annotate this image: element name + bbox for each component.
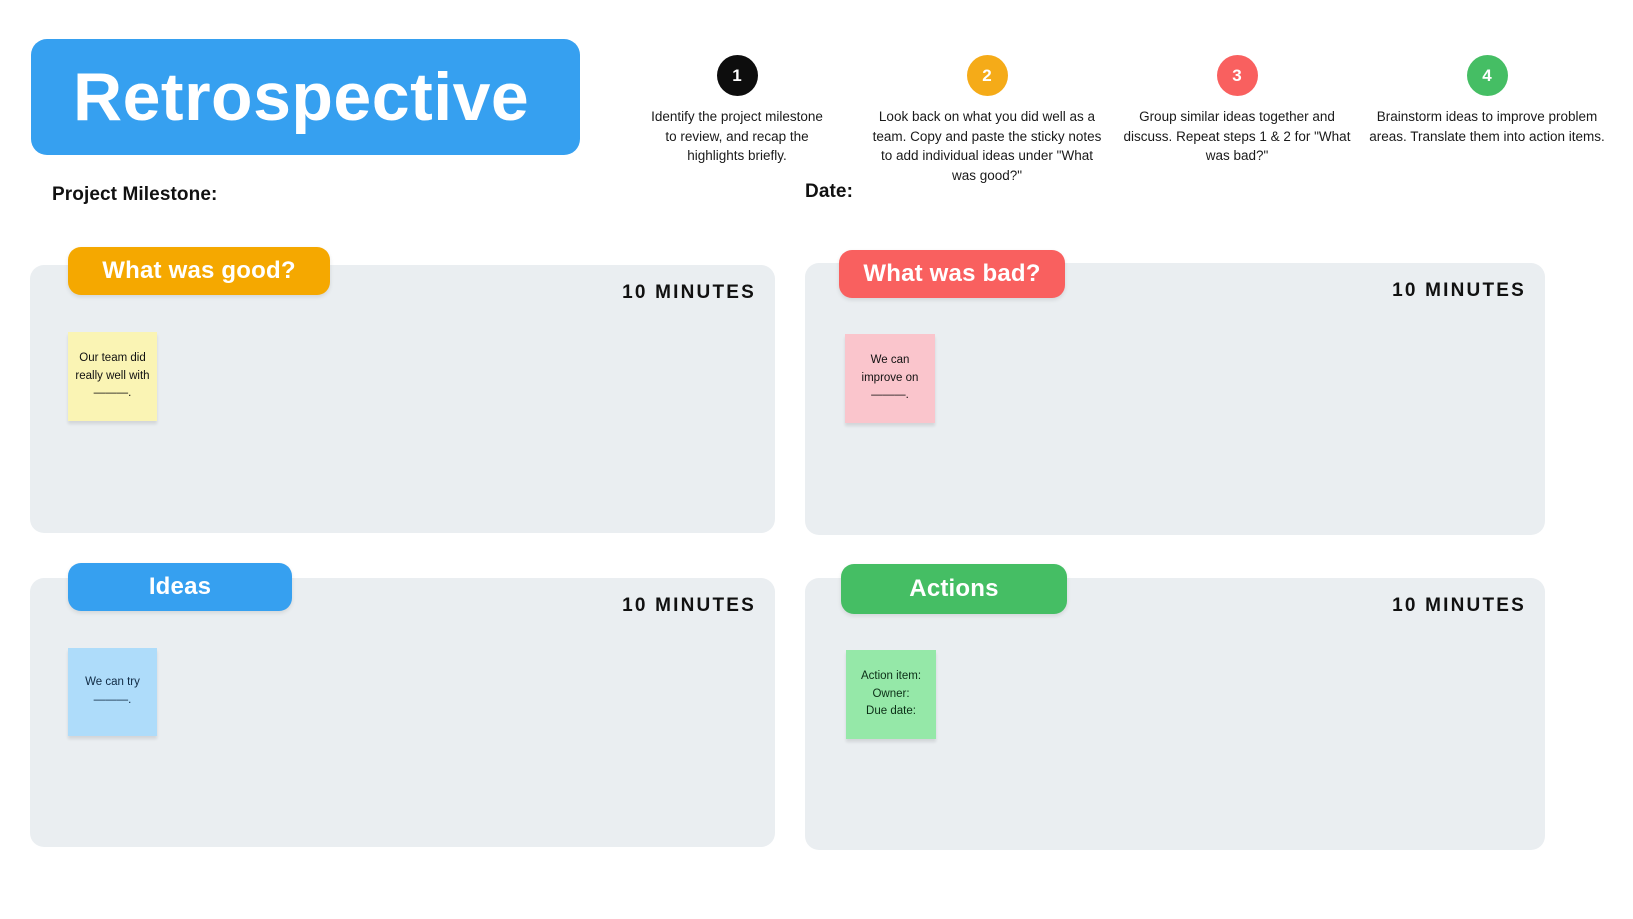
- date-label: Date:: [805, 181, 853, 203]
- panel-duration-good: 10 MINUTES: [622, 282, 756, 304]
- category-pill-label-actions: Actions: [909, 575, 998, 603]
- category-pill-label-good: What was good?: [102, 257, 295, 285]
- sticky-note-text-ideas: We can try ———.: [85, 674, 140, 710]
- instruction-step-3: 3 Group similar ideas together and discu…: [1112, 55, 1362, 185]
- project-milestone-label: Project Milestone:: [52, 184, 217, 206]
- step-description-1: Identify the project milestone to review…: [650, 107, 825, 166]
- step-description-3: Group similar ideas together and discuss…: [1118, 107, 1356, 166]
- sticky-note-good[interactable]: Our team did really well with ———.: [68, 332, 157, 421]
- category-pill-actions[interactable]: Actions: [841, 564, 1067, 614]
- sticky-note-bad[interactable]: We can improve on ———.: [845, 334, 935, 423]
- category-pill-label-bad: What was bad?: [863, 260, 1040, 288]
- instruction-step-1: 1 Identify the project milestone to revi…: [612, 55, 862, 185]
- panel-duration-actions: 10 MINUTES: [1392, 595, 1526, 617]
- sticky-note-actions[interactable]: Action item: Owner: Due date:: [846, 650, 936, 739]
- step-number-badge-3: 3: [1217, 55, 1258, 96]
- instruction-step-2: 2 Look back on what you did well as a te…: [862, 55, 1112, 185]
- category-pill-what-was-bad[interactable]: What was bad?: [839, 250, 1065, 298]
- sticky-note-text-good: Our team did really well with ———.: [74, 350, 151, 403]
- step-description-4: Brainstorm ideas to improve problem area…: [1368, 107, 1606, 146]
- category-pill-label-ideas: Ideas: [149, 573, 211, 601]
- board-title-banner: Retrospective: [31, 39, 580, 155]
- step-number-badge-4: 4: [1467, 55, 1508, 96]
- category-pill-ideas[interactable]: Ideas: [68, 563, 292, 611]
- instruction-steps: 1 Identify the project milestone to revi…: [612, 55, 1612, 185]
- sticky-note-text-actions: Action item: Owner: Due date:: [861, 668, 921, 721]
- sticky-note-text-bad: We can improve on ———.: [851, 352, 929, 405]
- panel-duration-ideas: 10 MINUTES: [622, 595, 756, 617]
- board-title: Retrospective: [73, 63, 529, 131]
- instruction-step-4: 4 Brainstorm ideas to improve problem ar…: [1362, 55, 1612, 185]
- step-number-badge-2: 2: [967, 55, 1008, 96]
- category-pill-what-was-good[interactable]: What was good?: [68, 247, 330, 295]
- step-description-2: Look back on what you did well as a team…: [868, 107, 1106, 185]
- step-number-badge-1: 1: [717, 55, 758, 96]
- panel-duration-bad: 10 MINUTES: [1392, 280, 1526, 302]
- sticky-note-ideas[interactable]: We can try ———.: [68, 648, 157, 736]
- retrospective-board: Retrospective 1 Identify the project mil…: [0, 0, 1633, 919]
